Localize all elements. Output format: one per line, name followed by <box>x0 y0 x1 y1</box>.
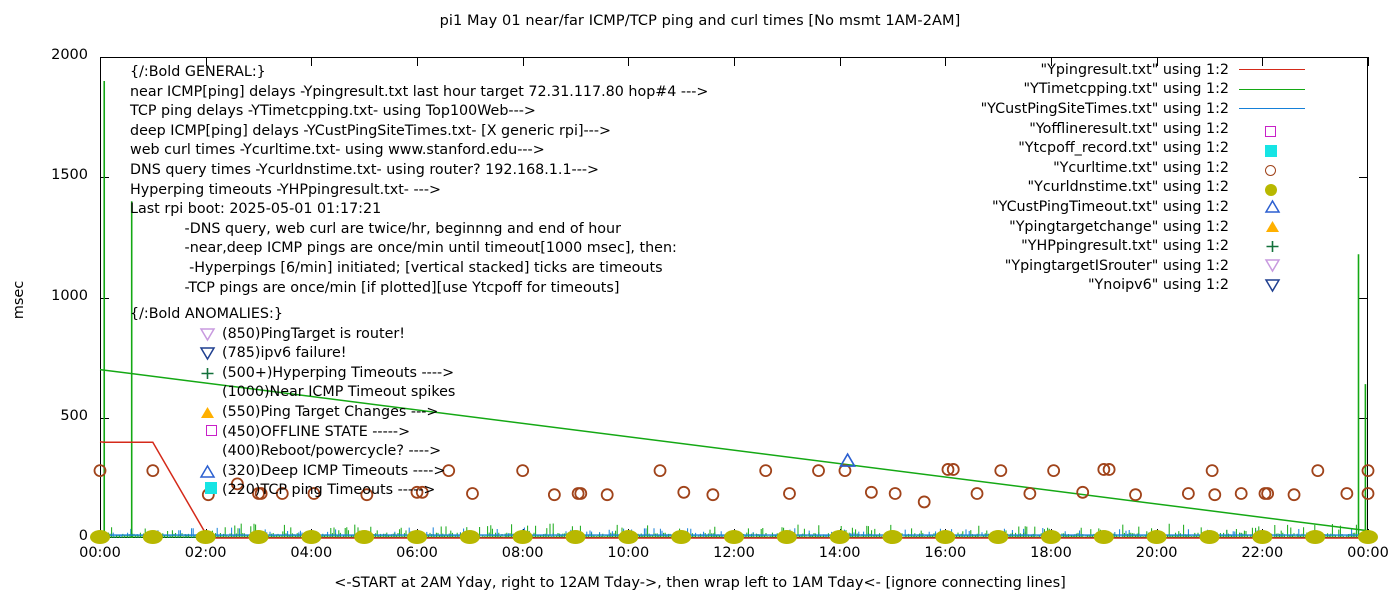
anomaly-label: (450)OFFLINE STATE -----> <box>222 424 410 440</box>
x-tick-label-2: 04:00 <box>276 545 346 561</box>
general-note-line-6: Last rpi boot: 2025-05-01 01:17:21 <box>130 200 708 220</box>
anomalies-heading: {/:Bold ANOMALIES:} <box>130 305 455 325</box>
marker-open-circle <box>549 489 560 500</box>
general-note-line-7: -DNS query, web curl are twice/hr, begin… <box>130 220 708 240</box>
anomaly-label: (500+)Hyperping Timeouts ----> <box>222 365 454 381</box>
marker-open-circle <box>995 465 1006 476</box>
marker-filled-circle <box>777 530 797 544</box>
marker-open-circle <box>602 489 613 500</box>
general-note-line-8: -near,deep ICMP pings are once/min until… <box>130 239 708 259</box>
anomaly-symbol-open-triangle-down <box>200 347 222 360</box>
legend-entry-9[interactable]: "YHPpingresult.txt" using 1:2 <box>975 236 1305 256</box>
legend-key-open-triangle-up-icon <box>1239 197 1305 216</box>
x-tick-label-11: 22:00 <box>1227 545 1297 561</box>
marker-open-circle <box>1048 465 1059 476</box>
anomaly-label: (400)Reboot/powercycle? ----> <box>222 443 441 459</box>
x-tick-label-3: 06:00 <box>382 545 452 561</box>
marker-filled-circle <box>460 530 480 544</box>
marker-filled-circle <box>513 530 533 544</box>
marker-open-circle <box>784 488 795 499</box>
anomaly-symbol-open-triangle-down <box>200 328 222 341</box>
legend-label: "Yofflineresult.txt" using 1:2 <box>1029 121 1229 137</box>
y-tick-label-2: 1000 <box>28 288 88 304</box>
legend-entry-10[interactable]: "YpingtargetISrouter" using 1:2 <box>975 256 1305 276</box>
general-note-line-5: Hyperping timeouts -YHPpingresult.txt- -… <box>130 181 708 201</box>
legend-key-line-icon <box>1239 80 1305 99</box>
anomaly-row-0: (850)PingTarget is router! <box>130 325 455 345</box>
marker-open-circle <box>517 465 528 476</box>
anomaly-row-3: (1000)Near ICMP Timeout spikes <box>130 383 455 403</box>
legend-entry-8[interactable]: "Ypingtargetchange" using 1:2 <box>975 217 1305 237</box>
marker-open-circle <box>919 496 930 507</box>
marker-open-circle <box>972 488 983 499</box>
marker-open-circle <box>890 488 901 499</box>
marker-filled-circle <box>1358 530 1378 544</box>
marker-open-circle <box>1341 488 1352 499</box>
anomaly-row-1: (785)ipv6 failure! <box>130 344 455 364</box>
marker-filled-circle <box>90 530 110 544</box>
marker-filled-circle <box>671 530 691 544</box>
legend-key-open-circle-icon <box>1239 158 1305 177</box>
legend-label: "Ynoipv6" using 1:2 <box>1088 277 1229 293</box>
x-tick-label-9: 18:00 <box>1016 545 1086 561</box>
marker-open-circle <box>655 465 666 476</box>
general-note-line-9: -Hyperpings [6/min] initiated; [vertical… <box>130 259 708 279</box>
legend-entry-0[interactable]: "Ypingresult.txt" using 1:2 <box>975 60 1305 80</box>
legend-entry-5[interactable]: "Ycurltime.txt" using 1:2 <box>975 158 1305 178</box>
marker-filled-circle <box>143 530 163 544</box>
anomaly-row-5: (450)OFFLINE STATE -----> <box>130 423 455 443</box>
legend-label: "Ypingresult.txt" using 1:2 <box>1041 62 1229 78</box>
marker-filled-circle <box>988 530 1008 544</box>
legend-key-open-triangle-down-icon <box>1239 256 1305 275</box>
legend-key-filled-circle-icon <box>1239 178 1305 197</box>
y-axis-label: msec <box>11 265 27 335</box>
marker-open-circle <box>1183 488 1194 499</box>
marker-open-circle <box>1077 487 1088 498</box>
marker-open-circle <box>467 488 478 499</box>
marker-open-circle <box>1024 488 1035 499</box>
marker-open-circle <box>1363 488 1374 499</box>
chart-title: pi1 May 01 near/far ICMP/TCP ping and cu… <box>0 13 1400 29</box>
marker-filled-circle <box>407 530 427 544</box>
anomaly-symbol-filled-square <box>200 481 222 501</box>
marker-open-circle <box>1209 489 1220 500</box>
marker-open-circle <box>678 487 689 498</box>
anomaly-label: (1000)Near ICMP Timeout spikes <box>222 384 455 400</box>
x-tick-label-8: 16:00 <box>910 545 980 561</box>
general-notes-block: {/:Bold GENERAL:}near ICMP[ping] delays … <box>130 63 708 298</box>
marker-filled-circle <box>301 530 321 544</box>
anomaly-symbol-open-triangle-up <box>200 465 222 478</box>
marker-filled-circle <box>1305 530 1325 544</box>
marker-open-circle <box>1363 465 1374 476</box>
marker-filled-circle <box>618 530 638 544</box>
marker-filled-circle <box>830 530 850 544</box>
legend-entry-7[interactable]: "YCustPingTimeout.txt" using 1:2 <box>975 197 1305 217</box>
x-tick-mark-12 <box>1368 57 1369 66</box>
x-tick-label-12: 00:00 <box>1333 545 1400 561</box>
general-note-line-4: DNS query times -Ycurldnstime.txt- using… <box>130 161 708 181</box>
marker-open-circle <box>760 465 771 476</box>
legend-label: "Ycurltime.txt" using 1:2 <box>1053 160 1229 176</box>
legend-label: "YpingtargetISrouter" using 1:2 <box>1005 258 1229 274</box>
legend-label: "YCustPingTimeout.txt" using 1:2 <box>992 199 1229 215</box>
anomaly-label: (320)Deep ICMP Timeouts ----> <box>222 463 445 479</box>
anomaly-label: (850)PingTarget is router! <box>222 326 405 342</box>
anomaly-label: (550)Ping Target Changes ---> <box>222 404 438 420</box>
anomaly-label: (220)TCP ping Timeouts -----> <box>222 482 435 498</box>
marker-filled-circle <box>354 530 374 544</box>
marker-filled-circle <box>249 530 269 544</box>
marker-filled-circle <box>1200 530 1220 544</box>
chart-page: pi1 May 01 near/far ICMP/TCP ping and cu… <box>0 0 1400 600</box>
legend-key-open-square-icon <box>1239 119 1305 138</box>
x-tick-label-5: 10:00 <box>593 545 663 561</box>
anomaly-row-4: (550)Ping Target Changes ---> <box>130 403 455 423</box>
legend-label: "YTimetcpping.txt" using 1:2 <box>1023 81 1229 97</box>
x-tick-label-7: 14:00 <box>805 545 875 561</box>
marker-open-circle <box>866 487 877 498</box>
marker-open-circle <box>1312 465 1323 476</box>
y-tick-label-4: 2000 <box>28 47 88 63</box>
y-tick-label-3: 1500 <box>28 167 88 183</box>
legend-key-plus-icon <box>1239 237 1305 256</box>
legend-key-filled-triangle-up-icon <box>1239 217 1305 236</box>
chart-legend: "Ypingresult.txt" using 1:2"YTimetcpping… <box>975 60 1305 295</box>
marker-open-circle <box>1130 489 1141 500</box>
legend-key-filled-square-icon <box>1239 139 1305 158</box>
legend-entry-6[interactable]: "Ycurldnstime.txt" using 1:2 <box>975 178 1305 198</box>
x-tick-label-0: 00:00 <box>65 545 135 561</box>
marker-filled-circle <box>196 530 216 544</box>
marker-filled-circle <box>566 530 586 544</box>
anomalies-block: {/:Bold ANOMALIES:}(850)PingTarget is ro… <box>130 305 455 501</box>
legend-key-line-icon <box>1239 99 1305 118</box>
anomaly-row-6: (400)Reboot/powercycle? ----> <box>130 442 455 462</box>
marker-filled-circle <box>1094 530 1114 544</box>
anomaly-row-7: (320)Deep ICMP Timeouts ----> <box>130 462 455 482</box>
marker-filled-circle <box>1252 530 1272 544</box>
marker-filled-circle <box>1041 530 1061 544</box>
legend-label: "Ytcpoff_record.txt" using 1:2 <box>1018 140 1229 156</box>
x-tick-label-1: 02:00 <box>171 545 241 561</box>
legend-label: "YHPpingresult.txt" using 1:2 <box>1021 238 1229 254</box>
general-note-line-3: web curl times -Ycurltime.txt- using www… <box>130 141 708 161</box>
marker-open-circle <box>813 465 824 476</box>
general-note-line-1: TCP ping delays -YTimetcpping.txt- using… <box>130 102 708 122</box>
marker-open-circle <box>1236 488 1247 499</box>
anomaly-symbol-filled-triangle-up <box>200 406 222 419</box>
marker-open-circle <box>707 489 718 500</box>
marker-filled-circle <box>1147 530 1167 544</box>
anomaly-label: (785)ipv6 failure! <box>222 345 346 361</box>
marker-filled-circle <box>883 530 903 544</box>
legend-key-open-triangle-down-icon <box>1239 276 1305 295</box>
general-note-line-2: deep ICMP[ping] delays -YCustPingSiteTim… <box>130 122 708 142</box>
anomaly-row-2: (500+)Hyperping Timeouts ----> <box>130 364 455 384</box>
general-note-line-10: -TCP pings are once/min [if plotted][use… <box>130 279 708 299</box>
x-tick-label-4: 08:00 <box>488 545 558 561</box>
y-tick-label-0: 0 <box>28 528 88 544</box>
anomaly-row-8: (220)TCP ping Timeouts -----> <box>130 481 455 501</box>
anomaly-symbol-open-square <box>200 423 222 443</box>
legend-key-line-icon <box>1239 60 1305 79</box>
legend-entry-2[interactable]: "YCustPingSiteTimes.txt" using 1:2 <box>975 99 1305 119</box>
marker-filled-circle <box>724 530 744 544</box>
x-axis-label: <-START at 2AM Yday, right to 12AM Tday-… <box>0 575 1400 591</box>
legend-entry-1[interactable]: "YTimetcpping.txt" using 1:2 <box>975 80 1305 100</box>
legend-entry-4[interactable]: "Ytcpoff_record.txt" using 1:2 <box>975 138 1305 158</box>
legend-label: "Ypingtargetchange" using 1:2 <box>1009 219 1229 235</box>
marker-filled-circle <box>935 530 955 544</box>
anomaly-symbol-plus <box>200 367 222 380</box>
legend-label: "YCustPingSiteTimes.txt" using 1:2 <box>981 101 1229 117</box>
legend-label: "Ycurldnstime.txt" using 1:2 <box>1028 179 1229 195</box>
marker-open-circle <box>1289 489 1300 500</box>
general-note-line-0: near ICMP[ping] delays -Ypingresult.txt … <box>130 83 708 103</box>
marker-open-circle <box>1207 465 1218 476</box>
legend-entry-11[interactable]: "Ynoipv6" using 1:2 <box>975 276 1305 296</box>
y-tick-label-1: 500 <box>28 408 88 424</box>
x-tick-label-6: 12:00 <box>699 545 769 561</box>
x-tick-label-10: 20:00 <box>1122 545 1192 561</box>
legend-entry-3[interactable]: "Yofflineresult.txt" using 1:2 <box>975 119 1305 139</box>
general-notes-heading: {/:Bold GENERAL:} <box>130 63 708 83</box>
